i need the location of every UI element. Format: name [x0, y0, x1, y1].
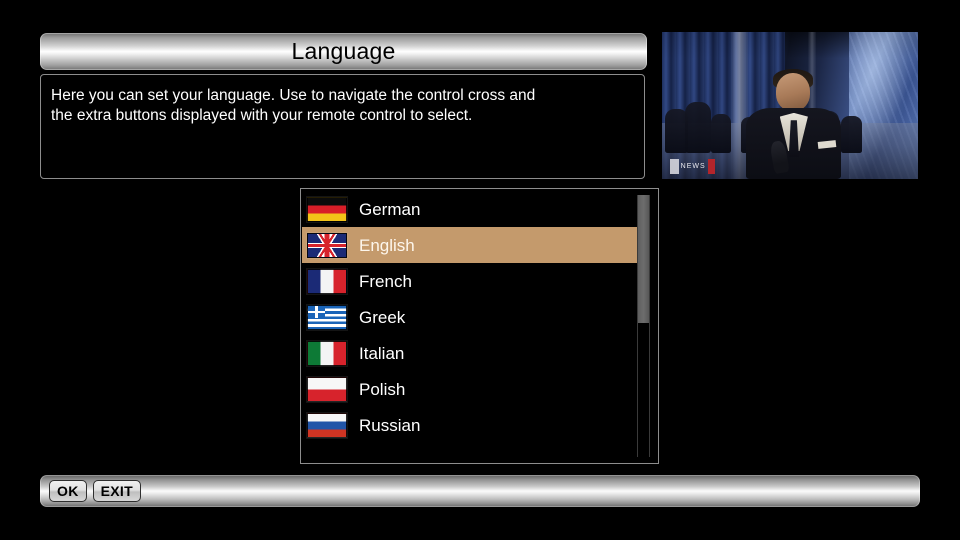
list-item-label: German [359, 201, 420, 218]
language-list-panel: German English French Greek Italian Poli… [300, 188, 659, 464]
list-item-label: English [359, 237, 415, 254]
page-title: Language [292, 40, 396, 63]
description-text: Here you can set your language. Use to n… [51, 86, 632, 127]
list-item[interactable]: French [302, 263, 643, 299]
bottom-button-bar: OK EXIT [40, 475, 920, 507]
language-list: German English French Greek Italian Poli… [302, 191, 643, 443]
list-item[interactable]: Polish [302, 371, 643, 407]
list-item-label: Greek [359, 309, 405, 326]
list-item-label: Italian [359, 345, 404, 362]
video-person [685, 102, 711, 153]
video-person [841, 116, 861, 152]
list-item[interactable]: Italian [302, 335, 643, 371]
description-panel: Here you can set your language. Use to n… [40, 74, 645, 179]
video-preview[interactable]: NEWS [662, 32, 918, 179]
list-item[interactable]: Russian [302, 407, 643, 443]
flag-germany-icon [307, 197, 347, 222]
list-item[interactable]: German [302, 191, 643, 227]
channel-logo: NEWS [670, 159, 715, 174]
list-item[interactable]: English [302, 227, 643, 263]
flag-italy-icon [307, 341, 347, 366]
video-reporter-pocket-square [818, 140, 837, 149]
page-title-bar: Language [40, 33, 647, 70]
scrollbar[interactable] [637, 195, 650, 457]
flag-greece-icon [307, 305, 347, 330]
list-item-label: French [359, 273, 412, 290]
list-item[interactable]: Greek [302, 299, 643, 335]
channel-logo-mark [670, 159, 679, 174]
list-item-label: Russian [359, 417, 420, 434]
ok-button[interactable]: OK [49, 480, 87, 502]
flag-united-kingdom-icon [307, 233, 347, 258]
list-item-label: Polish [359, 381, 405, 398]
exit-button[interactable]: EXIT [93, 480, 141, 502]
flag-russia-icon [307, 413, 347, 438]
flag-france-icon [307, 269, 347, 294]
channel-logo-accent [708, 159, 715, 174]
flag-poland-icon [307, 377, 347, 402]
video-person [711, 114, 731, 153]
scrollbar-thumb[interactable] [638, 195, 649, 323]
channel-logo-text: NEWS [681, 163, 706, 170]
video-reporter-head [776, 73, 811, 111]
